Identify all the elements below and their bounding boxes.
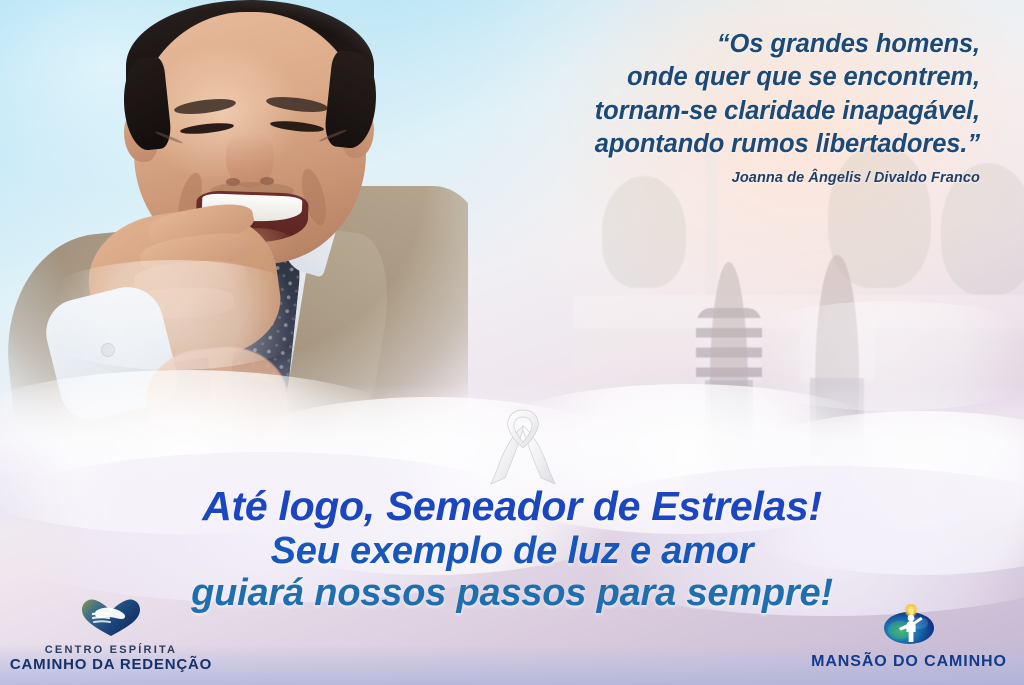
walking-figure-white	[800, 255, 875, 452]
poster-canvas: “Os grandes homens, onde quer que se enc…	[0, 0, 1024, 685]
quote-line-2: onde quer que se encontrem,	[380, 61, 980, 94]
quote-attribution: Joanna de Ângelis / Divaldo Franco	[380, 170, 980, 186]
quote-line-4: apontando rumos libertadores.”	[380, 128, 980, 161]
globe-with-figure-icon	[804, 604, 1014, 651]
walking-figure-striped	[696, 262, 762, 453]
heart-with-hand-icon	[8, 597, 214, 642]
headline-block: Até logo, Semeador de Estrelas! Seu exem…	[0, 486, 1024, 612]
logo-mansao-do-caminho: MANSÃO DO CAMINHO	[804, 604, 1014, 671]
logo-right-line-1: MANSÃO DO CAMINHO	[804, 653, 1014, 671]
headline-line-1: Até logo, Semeador de Estrelas!	[0, 486, 1024, 528]
white-mourning-ribbon-icon	[489, 408, 557, 486]
quote-block: “Os grandes homens, onde quer que se enc…	[380, 28, 980, 162]
logo-left-line-1: CENTRO ESPÍRITA	[8, 644, 214, 656]
quote-line-1: “Os grandes homens,	[380, 28, 980, 61]
logo-centro-espirita: CENTRO ESPÍRITA CAMINHO DA REDENÇÃO	[8, 597, 214, 673]
palm-tree-icon	[602, 176, 687, 288]
logo-left-line-2: CAMINHO DA REDENÇÃO	[8, 656, 214, 673]
headline-line-2: Seu exemplo de luz e amor	[0, 532, 1024, 571]
faded-background-photo	[573, 137, 1024, 466]
quote-line-3: tornam-se claridade inapagável,	[380, 95, 980, 128]
